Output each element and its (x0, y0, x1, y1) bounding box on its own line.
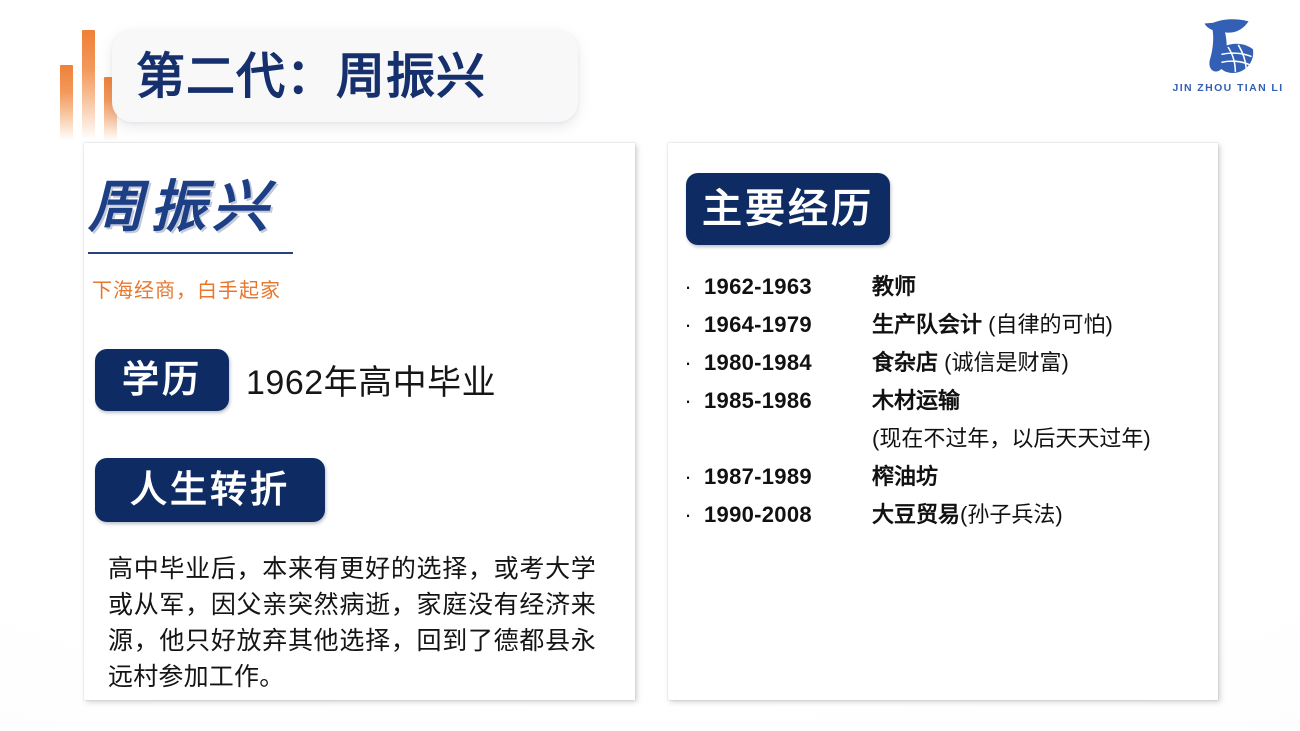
experience-role-title: 大豆贸易 (872, 502, 960, 527)
experience-role-note: (诚信是财富) (938, 350, 1069, 375)
experience-role-note: (自律的可怕) (982, 312, 1113, 337)
bullet-icon: · (672, 382, 704, 420)
education-value: 1962年高中毕业 (246, 361, 496, 405)
experience-role: (现在不过年，以后天天过年) (872, 420, 1212, 458)
experience-role-note: (现在不过年，以后天天过年) (872, 426, 1151, 451)
bullet-icon: · (672, 496, 704, 534)
experience-role-note: (孙子兵法) (960, 502, 1063, 527)
experience-years: 1990-2008 (704, 496, 872, 534)
experience-badge: 主要经历 (686, 173, 890, 245)
accent-bar-1 (60, 65, 73, 143)
experience-role: 生产队会计 (自律的可怕) (872, 306, 1212, 344)
slide-header: 第二代：周振兴 JIN ZHOU TIAN LI (0, 0, 1300, 150)
person-tagline: 下海经商，白手起家 (92, 277, 281, 305)
experience-row: ·1987-1989榨油坊 (672, 458, 1212, 496)
experience-years: 1980-1984 (704, 344, 872, 382)
experience-row: ·1980-1984食杂店 (诚信是财富) (672, 344, 1212, 382)
experience-role: 木材运输 (872, 382, 1212, 420)
experience-row: ·1962-1963教师 (672, 268, 1212, 306)
experience-years: 1964-1979 (704, 306, 872, 344)
education-badge: 学历 (95, 349, 229, 411)
experience-role: 榨油坊 (872, 458, 1212, 496)
bullet-icon: · (672, 268, 704, 306)
experience-role-title: 木材运输 (872, 388, 960, 413)
name-divider (88, 252, 293, 254)
experience-years: 1962-1963 (704, 268, 872, 306)
jinzhoutianli-logo-mark-icon (1191, 14, 1265, 80)
experience-role: 教师 (872, 268, 1212, 306)
experience-row: ·1985-1986木材运输 (672, 382, 1212, 420)
experience-role: 食杂店 (诚信是财富) (872, 344, 1212, 382)
experience-role-title: 教师 (872, 274, 916, 299)
bullet-icon: · (672, 306, 704, 344)
experience-role-title: 食杂店 (872, 350, 938, 375)
accent-bar-2 (82, 30, 95, 143)
turning-point-badge: 人生转折 (95, 458, 325, 522)
experience-role: 大豆贸易(孙子兵法) (872, 496, 1212, 534)
page-title: 第二代：周振兴 (136, 46, 486, 108)
bullet-icon: · (672, 344, 704, 382)
experience-role-title: 生产队会计 (872, 312, 982, 337)
experience-list: ·1962-1963教师·1964-1979生产队会计 (自律的可怕)·1980… (672, 268, 1212, 534)
experience-row: ·1990-2008大豆贸易(孙子兵法) (672, 496, 1212, 534)
company-logo: JIN ZHOU TIAN LI (1172, 14, 1284, 112)
experience-role-title: 榨油坊 (872, 464, 938, 489)
bullet-icon: · (672, 458, 704, 496)
experience-row: ·1964-1979生产队会计 (自律的可怕) (672, 306, 1212, 344)
experience-row: ·(现在不过年，以后天天过年) (672, 420, 1212, 458)
logo-wordmark: JIN ZHOU TIAN LI (1172, 82, 1284, 94)
turning-point-text: 高中毕业后，本来有更好的选择，或考大学或从军，因父亲突然病逝，家庭没有经济来源，… (108, 551, 596, 695)
person-name: 周振兴 (88, 175, 274, 239)
experience-years: 1985-1986 (704, 382, 872, 420)
experience-years: 1987-1989 (704, 458, 872, 496)
